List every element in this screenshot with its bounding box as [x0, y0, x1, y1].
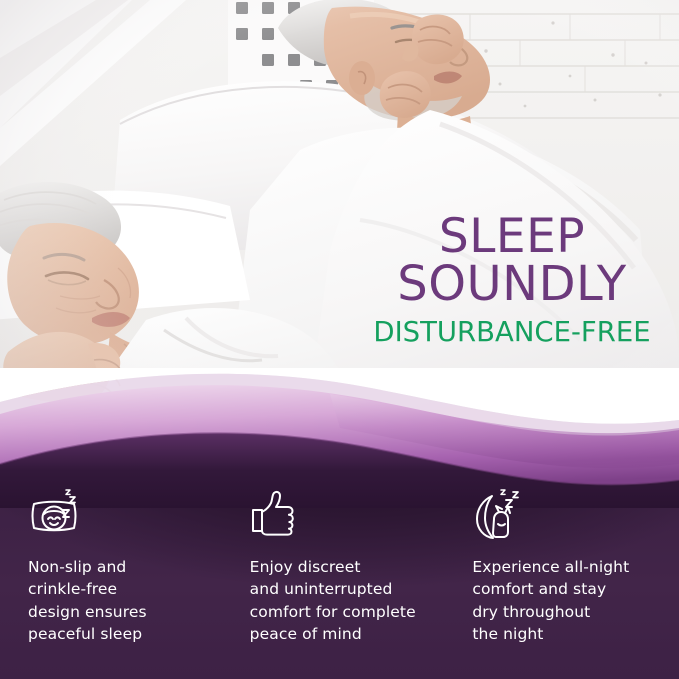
feature-text: Non-slip and crinkle-free design ensures…	[28, 556, 227, 645]
thumbs-up-icon	[250, 488, 449, 546]
feature-text: Experience all-night comfort and stay dr…	[472, 556, 671, 645]
headline-line-1: SLEEP	[362, 214, 662, 261]
product-banner: SLEEP SOUNDLY DISTURBANCE-FREE	[0, 0, 679, 679]
crescent-moon-zzz-icon	[472, 488, 671, 546]
feature-item-discreet: Enjoy discreet and uninterrupted comfort…	[235, 488, 457, 679]
feature-item-all-night: Experience all-night comfort and stay dr…	[456, 488, 679, 679]
headline-block: SLEEP SOUNDLY DISTURBANCE-FREE	[362, 214, 662, 348]
feature-text: Enjoy discreet and uninterrupted comfort…	[250, 556, 449, 645]
headline-subline: DISTURBANCE-FREE	[362, 316, 662, 348]
feature-item-non-slip: Non-slip and crinkle-free design ensures…	[0, 488, 235, 679]
sleeping-face-pillow-icon	[28, 488, 227, 546]
headline-line-2: SOUNDLY	[362, 261, 662, 309]
features-row: Non-slip and crinkle-free design ensures…	[0, 488, 679, 679]
